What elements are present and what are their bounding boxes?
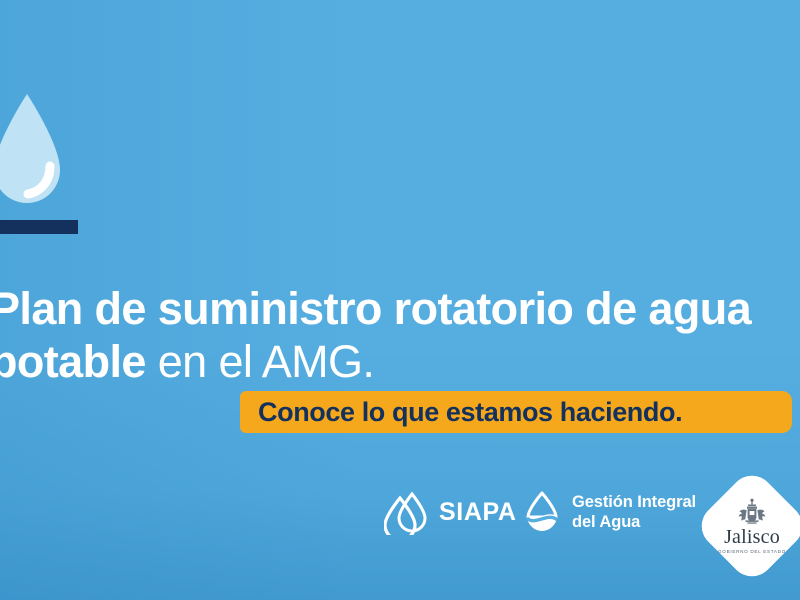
drop-waves-icon: [522, 490, 562, 534]
gestion-wordmark: Gestión Integral del Agua: [572, 492, 696, 532]
gestion-line-1: Gestión Integral: [572, 493, 696, 511]
headline-line-2: potable en el AMG.: [0, 335, 800, 388]
water-drop-icon: [0, 92, 66, 212]
logo-siapa[interactable]: SIAPA: [384, 489, 517, 535]
headline-line-1: Plan de suministro rotatorio de agua: [0, 282, 800, 335]
cta-label: Conoce lo que estamos haciendo.: [240, 397, 682, 428]
cta-banner[interactable]: Conoce lo que estamos haciendo.: [240, 391, 792, 433]
jalisco-wordmark: Jalisco: [724, 527, 780, 547]
drop-underline-bar: [0, 220, 78, 234]
headline-emphasis-potable: potable: [0, 336, 146, 387]
logo-gestion-integral-del-agua[interactable]: Gestión Integral del Agua: [522, 490, 696, 534]
jalisco-coat-of-arms-icon: [735, 498, 769, 526]
headline-line-1-text: Plan de suministro rotatorio de agua: [0, 283, 751, 334]
gestion-line-2: del Agua: [572, 513, 640, 531]
jalisco-subtitle: GOBIERNO DEL ESTADO: [718, 549, 786, 554]
logo-jalisco[interactable]: Jalisco GOBIERNO DEL ESTADO: [704, 478, 800, 574]
double-water-drop-icon: [384, 489, 430, 535]
logo-strip: SIAPA Gestión Integral del Agua: [384, 478, 800, 564]
water-supply-campaign-banner: Plan de suministro rotatorio de agua pot…: [0, 0, 800, 600]
page-title: Plan de suministro rotatorio de agua pot…: [0, 282, 800, 388]
headline-line-2-rest: en el AMG.: [146, 336, 375, 387]
siapa-wordmark: SIAPA: [439, 498, 517, 527]
